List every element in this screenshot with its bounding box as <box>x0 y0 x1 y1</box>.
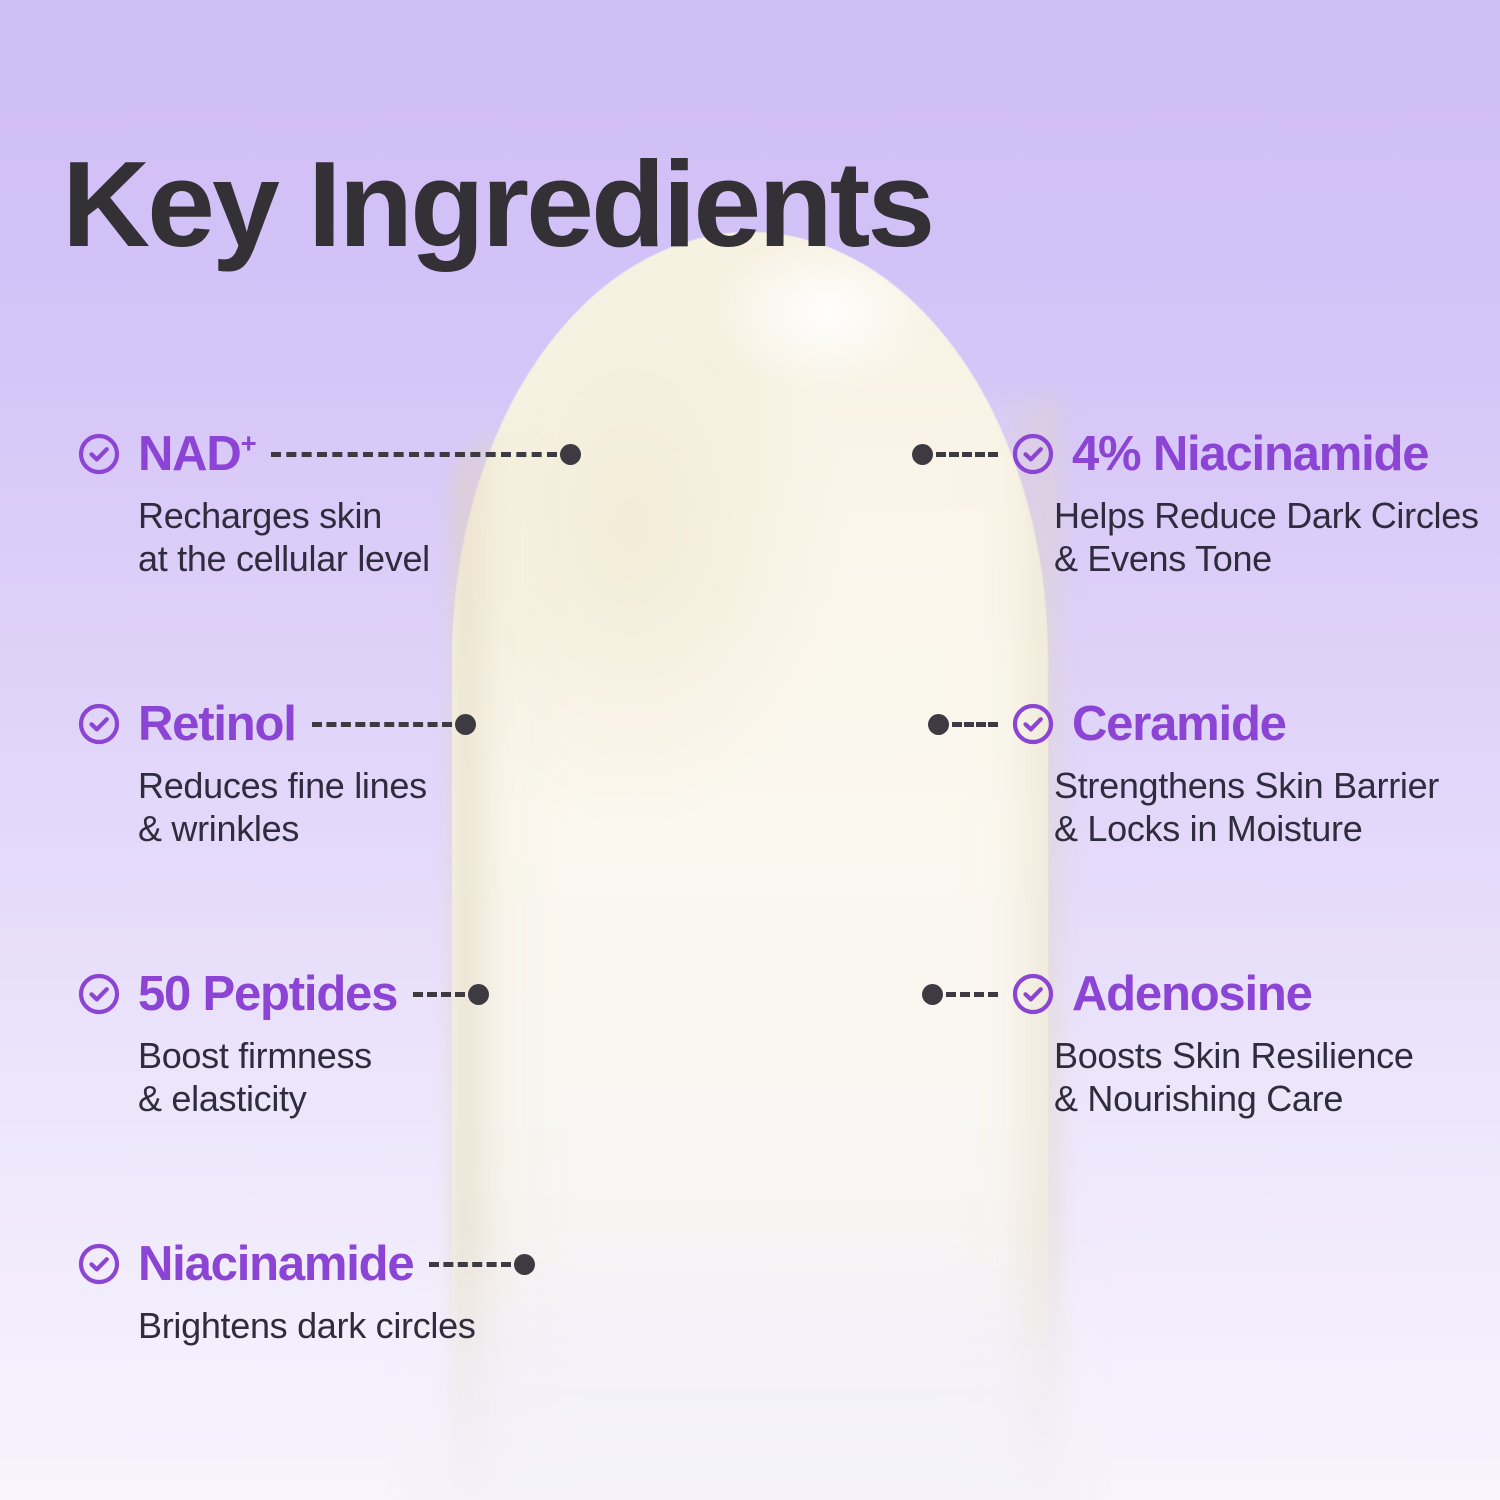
description-line-1: Boosts Skin Resilience <box>1054 1034 1414 1077</box>
description-line-1: Reduces fine lines <box>138 764 476 807</box>
key-ingredients-infographic: Key Ingredients NAD+ Recharges skin at t… <box>0 0 1500 1500</box>
ingredient-name-ceramide: Ceramide <box>1072 700 1286 749</box>
dashed-line <box>952 722 998 727</box>
connector-dot <box>560 444 581 465</box>
check-circle-icon <box>78 703 120 745</box>
ingredient-name-peptides: 50 Peptides <box>138 970 397 1019</box>
ingredient-name-nad: NAD+ <box>138 430 255 479</box>
ingredient-callout-4-niacinamide: 4% Niacinamide Helps Reduce Dark Circles… <box>912 428 1479 580</box>
dashed-line <box>312 722 452 727</box>
ingredient-callout-niacinamide: Niacinamide Brightens dark circles <box>78 1238 535 1347</box>
connector-dot <box>455 714 476 735</box>
ingredient-header-peptides: 50 Peptides <box>78 968 489 1020</box>
connector-line-retinol <box>312 703 476 745</box>
description-line-1: Helps Reduce Dark Circles <box>1054 494 1479 537</box>
connector-line-ceramide <box>928 703 998 745</box>
check-circle-icon <box>1012 973 1054 1015</box>
connector-line-4-niacinamide <box>912 433 998 475</box>
connector-dot <box>468 984 489 1005</box>
description-line-1: Recharges skin <box>138 494 581 537</box>
ingredient-header-niacinamide: Niacinamide <box>78 1238 535 1290</box>
ingredient-description-adenosine: Boosts Skin Resilience & Nourishing Care <box>1054 1034 1414 1120</box>
description-line-2: at the cellular level <box>138 537 581 580</box>
description-line-2: & elasticity <box>138 1077 489 1120</box>
ingredient-header-nad: NAD+ <box>78 428 581 480</box>
description-line-1: Strengthens Skin Barrier <box>1054 764 1439 807</box>
ingredient-name-superscript: + <box>241 427 256 458</box>
ingredient-name-adenosine: Adenosine <box>1072 970 1312 1019</box>
ingredient-description-peptides: Boost firmness & elasticity <box>138 1034 489 1120</box>
description-line-2: & Evens Tone <box>1054 537 1479 580</box>
connector-line-niacinamide <box>429 1243 535 1285</box>
description-line-1: Brightens dark circles <box>138 1304 535 1347</box>
ingredient-header-4-niacinamide: 4% Niacinamide <box>912 428 1479 480</box>
check-circle-icon <box>78 1243 120 1285</box>
connector-dot <box>922 984 943 1005</box>
description-line-1: Boost firmness <box>138 1034 489 1077</box>
dashed-line <box>936 452 998 457</box>
ingredient-callout-adenosine: Adenosine Boosts Skin Resilience & Nouri… <box>922 968 1414 1120</box>
ingredient-name-text: NAD <box>138 427 241 481</box>
ingredient-callout-peptides: 50 Peptides Boost firmness & elasticity <box>78 968 489 1120</box>
connector-line-adenosine <box>922 973 998 1015</box>
ingredient-description-ceramide: Strengthens Skin Barrier & Locks in Mois… <box>1054 764 1439 850</box>
description-line-2: & wrinkles <box>138 807 476 850</box>
ingredient-description-4-niacinamide: Helps Reduce Dark Circles & Evens Tone <box>1054 494 1479 580</box>
check-circle-icon <box>1012 433 1054 475</box>
page-title: Key Ingredients <box>62 140 932 268</box>
cream-blob-shape <box>452 232 1048 1500</box>
ingredient-callout-ceramide: Ceramide Strengthens Skin Barrier & Lock… <box>928 698 1439 850</box>
ingredient-description-niacinamide: Brightens dark circles <box>138 1304 535 1347</box>
description-line-2: & Locks in Moisture <box>1054 807 1439 850</box>
ingredient-callout-retinol: Retinol Reduces fine lines & wrinkles <box>78 698 476 850</box>
ingredient-header-retinol: Retinol <box>78 698 476 750</box>
ingredient-description-nad: Recharges skin at the cellular level <box>138 494 581 580</box>
dashed-line <box>429 1262 511 1267</box>
ingredient-description-retinol: Reduces fine lines & wrinkles <box>138 764 476 850</box>
ingredient-name-niacinamide: Niacinamide <box>138 1240 413 1289</box>
connector-line-peptides <box>413 973 489 1015</box>
dashed-line <box>271 452 557 457</box>
check-circle-icon <box>78 433 120 475</box>
check-circle-icon <box>1012 703 1054 745</box>
ingredient-name-retinol: Retinol <box>138 700 296 749</box>
connector-dot <box>912 444 933 465</box>
ingredient-callout-nad: NAD+ Recharges skin at the cellular leve… <box>78 428 581 580</box>
connector-dot <box>928 714 949 735</box>
connector-dot <box>514 1254 535 1275</box>
connector-line-nad <box>271 433 581 475</box>
dashed-line <box>413 992 465 997</box>
dashed-line <box>946 992 998 997</box>
ingredient-header-adenosine: Adenosine <box>922 968 1414 1020</box>
ingredient-name-4-niacinamide: 4% Niacinamide <box>1072 430 1428 479</box>
ingredient-header-ceramide: Ceramide <box>928 698 1439 750</box>
check-circle-icon <box>78 973 120 1015</box>
description-line-2: & Nourishing Care <box>1054 1077 1414 1120</box>
